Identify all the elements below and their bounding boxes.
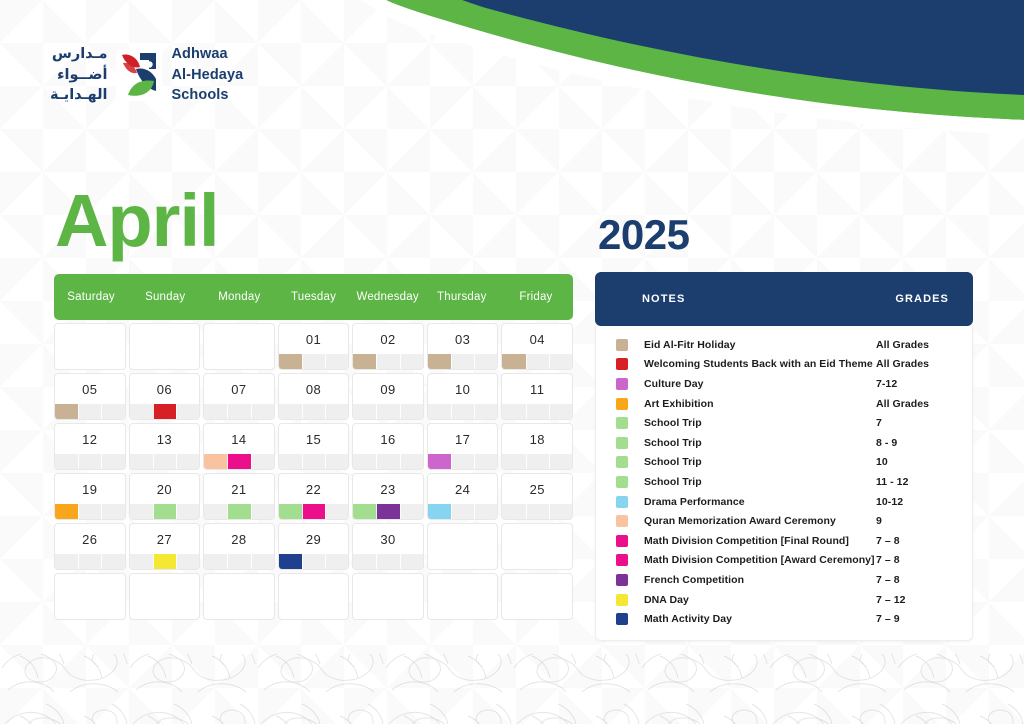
calendar-event-slot-empty [55, 354, 78, 369]
calendar-day-number: 02 [353, 324, 423, 347]
grades-column-label: GRADES [895, 293, 949, 305]
calendar-day-event-strip [428, 354, 498, 369]
calendar-event-slot-empty [325, 554, 348, 569]
calendar-event-slot-empty [353, 404, 376, 419]
calendar-event-slot-empty [526, 454, 549, 469]
calendar-event-chip[interactable] [502, 354, 525, 369]
note-label: DNA Day [644, 594, 876, 606]
calendar-event-slot-empty [451, 604, 474, 619]
calendar-day-number: 30 [353, 524, 423, 547]
calendar-day-number: 26 [55, 524, 125, 547]
calendar-event-slot-empty [227, 404, 250, 419]
calendar-day-cell-empty [278, 573, 350, 620]
calendar-day-number: 17 [428, 424, 498, 447]
school-logo: مـدارس أضــواء الهـدايـة Adhwaa Al-Heday… [50, 44, 243, 106]
calendar-day-cell[interactable]: 02 [352, 323, 424, 370]
calendar-event-chip[interactable] [353, 504, 376, 519]
calendar-event-slot-empty [78, 454, 101, 469]
calendar-day-number: 13 [130, 424, 200, 447]
calendar-event-slot-empty [428, 554, 451, 569]
notes-column-label: NOTES [642, 293, 685, 305]
calendar-day-number [204, 574, 274, 582]
note-grade: All Grades [876, 358, 948, 370]
calendar-event-chip[interactable] [55, 504, 78, 519]
calendar-day-cell[interactable]: 12 [54, 423, 126, 470]
calendar-event-slot-empty [101, 554, 124, 569]
note-label: Math Activity Day [644, 613, 876, 625]
calendar-day-cell-empty [501, 573, 573, 620]
note-legend-row[interactable]: School Trip11 - 12 [616, 472, 948, 492]
calendar-event-slot-empty [428, 604, 451, 619]
calendar-day-number: 29 [279, 524, 349, 547]
calendar-event-chip[interactable] [227, 454, 250, 469]
calendar-event-slot-empty [376, 604, 399, 619]
calendar-event-slot-empty [325, 404, 348, 419]
note-legend-row[interactable]: French Competition7 – 8 [616, 570, 948, 590]
calendar-day-number [428, 524, 498, 532]
calendar-day-cell[interactable]: 27 [129, 523, 201, 570]
logo-arabic-line-3: الهـدايـة [50, 85, 107, 106]
calendar-event-chip[interactable] [153, 554, 176, 569]
note-legend-row[interactable]: Art ExhibitionAll Grades [616, 394, 948, 414]
note-legend-row[interactable]: Math Activity Day7 – 9 [616, 609, 948, 629]
calendar-day-number: 07 [204, 374, 274, 397]
calendar-event-slot-empty [130, 604, 153, 619]
calendar-event-slot-empty [376, 454, 399, 469]
calendar-day-number [55, 574, 125, 582]
calendar-day-event-strip [130, 354, 200, 369]
calendar-day-event-strip [428, 504, 498, 519]
calendar-event-slot-empty [549, 604, 572, 619]
calendar-event-slot-empty [204, 504, 227, 519]
calendar-event-slot-empty [526, 354, 549, 369]
calendar-day-event-strip [55, 354, 125, 369]
calendar-day-event-strip [204, 554, 274, 569]
calendar-event-slot-empty [451, 454, 474, 469]
note-color-swatch [616, 358, 628, 370]
calendar-day-number: 25 [502, 474, 572, 497]
note-legend-row[interactable]: Quran Memorization Award Ceremony9 [616, 511, 948, 531]
calendar-day-cell[interactable]: 16 [352, 423, 424, 470]
calendar-event-slot-empty [204, 604, 227, 619]
calendar-event-slot-empty [474, 354, 497, 369]
calendar-event-slot-empty [353, 604, 376, 619]
note-legend-row[interactable]: Math Division Competition [Award Ceremon… [616, 551, 948, 571]
calendar-day-cell[interactable]: 30 [352, 523, 424, 570]
calendar-day-cell[interactable]: 23 [352, 473, 424, 520]
notes-panel: NOTES GRADES Eid Al-Fitr HolidayAll Grad… [595, 272, 973, 641]
calendar-day-number: 16 [353, 424, 423, 447]
calendar-event-chip[interactable] [279, 554, 302, 569]
note-grade: 7 – 8 [876, 535, 948, 547]
note-legend-row[interactable]: School Trip10 [616, 453, 948, 473]
calendar-day-cell-empty [352, 573, 424, 620]
calendar-day-event-strip [55, 504, 125, 519]
calendar-event-slot-empty [325, 604, 348, 619]
calendar-day-event-strip [428, 404, 498, 419]
calendar-event-slot-empty [101, 404, 124, 419]
note-legend-row[interactable]: Math Division Competition [Final Round]7… [616, 531, 948, 551]
calendar-event-slot-empty [78, 404, 101, 419]
calendar-event-slot-empty [502, 404, 525, 419]
note-grade: 7-12 [876, 378, 948, 390]
calendar-event-slot-empty [353, 454, 376, 469]
calendar-event-slot-empty [302, 354, 325, 369]
calendar-day-number: 10 [428, 374, 498, 397]
calendar-day-event-strip [55, 454, 125, 469]
calendar-event-slot-empty [101, 504, 124, 519]
calendar-event-slot-empty [251, 354, 274, 369]
calendar-day-event-strip [55, 554, 125, 569]
note-grade: 7 – 12 [876, 594, 948, 606]
calendar-event-slot-empty [227, 354, 250, 369]
calendar-day-cell[interactable]: 04 [501, 323, 573, 370]
calendar-day-cell[interactable]: 11 [501, 373, 573, 420]
calendar-event-slot-empty [204, 354, 227, 369]
page-title-month: April [55, 186, 219, 256]
calendar-week-row: 2627282930 [54, 523, 573, 570]
calendar-event-slot-empty [227, 554, 250, 569]
calendar-weekday-friday: Friday [499, 274, 573, 320]
calendar-day-number [428, 574, 498, 582]
calendar-event-chip[interactable] [353, 354, 376, 369]
calendar-day-cell[interactable]: 13 [129, 423, 201, 470]
calendar-event-slot-empty [130, 404, 153, 419]
calendar-event-slot-empty [176, 404, 199, 419]
calendar-day-event-strip [502, 604, 572, 619]
calendar-day-number [130, 574, 200, 582]
calendar-event-chip[interactable] [153, 404, 176, 419]
calendar-day-number: 11 [502, 374, 572, 397]
calendar-day-event-strip [130, 504, 200, 519]
calendar-event-slot-empty [400, 404, 423, 419]
note-label: Culture Day [644, 378, 876, 390]
note-grade: 10 [876, 456, 948, 468]
notes-list: Eid Al-Fitr HolidayAll GradesWelcoming S… [595, 326, 973, 641]
calendar-event-slot-empty [251, 404, 274, 419]
calendar-day-number: 04 [502, 324, 572, 347]
calendar-day-cell[interactable]: 25 [501, 473, 573, 520]
calendar-event-slot-empty [502, 454, 525, 469]
notes-panel-header: NOTES GRADES [595, 272, 973, 326]
note-label: Quran Memorization Award Ceremony [644, 515, 876, 527]
calendar-event-slot-empty [451, 554, 474, 569]
calendar-day-number: 01 [279, 324, 349, 347]
calendar-day-cell[interactable]: 17 [427, 423, 499, 470]
calendar-event-chip[interactable] [302, 504, 325, 519]
note-color-swatch [616, 574, 628, 586]
note-grade: 7 – 8 [876, 574, 948, 586]
calendar-day-cell[interactable]: 20 [129, 473, 201, 520]
calendar-day-cell[interactable]: 18 [501, 423, 573, 470]
calendar-day-event-strip [502, 504, 572, 519]
calendar-event-slot-empty [474, 404, 497, 419]
calendar-day-number [502, 574, 572, 582]
calendar-day-number: 22 [279, 474, 349, 497]
calendar-event-chip[interactable] [55, 404, 78, 419]
note-color-swatch [616, 594, 628, 606]
calendar-day-number [502, 524, 572, 532]
calendar-day-event-strip [204, 504, 274, 519]
calendar-day-event-strip [353, 504, 423, 519]
calendar-event-slot-empty [325, 354, 348, 369]
logo-arabic-text: مـدارس أضــواء الهـدايـة [50, 44, 107, 106]
calendar-day-cell[interactable]: 10 [427, 373, 499, 420]
calendar-day-event-strip [279, 554, 349, 569]
calendar-event-slot-empty [302, 404, 325, 419]
note-label: French Competition [644, 574, 876, 586]
calendar-event-slot-empty [130, 504, 153, 519]
note-label: Art Exhibition [644, 398, 876, 410]
note-grade: 7 – 8 [876, 554, 948, 566]
calendar-event-slot-empty [474, 504, 497, 519]
calendar-event-chip[interactable] [428, 504, 451, 519]
calendar-day-number: 05 [55, 374, 125, 397]
calendar-weekday-thursday: Thursday [425, 274, 499, 320]
calendar-day-event-strip [130, 454, 200, 469]
calendar-day-cell[interactable]: 14 [203, 423, 275, 470]
calendar-event-slot-empty [251, 554, 274, 569]
calendar-event-chip[interactable] [279, 354, 302, 369]
calendar-day-number: 27 [130, 524, 200, 547]
note-label: Drama Performance [644, 496, 876, 508]
calendar-day-cell[interactable]: 08 [278, 373, 350, 420]
calendar-day-number [279, 574, 349, 582]
calendar-event-slot-empty [153, 354, 176, 369]
calendar-event-chip[interactable] [428, 454, 451, 469]
calendar-day-event-strip [353, 354, 423, 369]
calendar-grid: SaturdaySundayMondayTuesdayWednesdayThur… [54, 274, 573, 620]
calendar-event-slot-empty [474, 554, 497, 569]
note-grade: All Grades [876, 339, 948, 351]
calendar-weekday-sunday: Sunday [128, 274, 202, 320]
logo-english-line-2: Al-Hedaya [171, 65, 243, 86]
calendar-day-cell-empty [427, 523, 499, 570]
calendar-event-slot-empty [526, 404, 549, 419]
calendar-event-slot-empty [353, 554, 376, 569]
calendar-event-slot-empty [549, 504, 572, 519]
calendar-day-event-strip [204, 604, 274, 619]
note-color-swatch [616, 398, 628, 410]
note-label: School Trip [644, 437, 876, 449]
calendar-day-cell[interactable]: 28 [203, 523, 275, 570]
calendar-event-slot-empty [376, 404, 399, 419]
calendar-event-slot-empty [251, 504, 274, 519]
calendar-event-slot-empty [325, 504, 348, 519]
calendar-event-slot-empty [376, 554, 399, 569]
calendar-day-cell[interactable]: 06 [129, 373, 201, 420]
calendar-event-slot-empty [176, 554, 199, 569]
note-legend-row[interactable]: School Trip7 [616, 413, 948, 433]
calendar-day-number: 08 [279, 374, 349, 397]
note-color-swatch [616, 417, 628, 429]
note-legend-row[interactable]: DNA Day7 – 12 [616, 590, 948, 610]
calendar-event-slot-empty [279, 404, 302, 419]
calendar-week-row: 19202122232425 [54, 473, 573, 520]
note-color-swatch [616, 554, 628, 566]
calendar-day-event-strip [204, 454, 274, 469]
calendar-day-event-strip [502, 354, 572, 369]
calendar-event-slot-empty [176, 504, 199, 519]
note-color-swatch [616, 456, 628, 468]
calendar-event-slot-empty [78, 504, 101, 519]
calendar-event-slot-empty [251, 454, 274, 469]
calendar-event-chip[interactable] [376, 504, 399, 519]
calendar-day-cell-empty [54, 573, 126, 620]
calendar-day-cell[interactable]: 05 [54, 373, 126, 420]
calendar-event-slot-empty [549, 454, 572, 469]
calendar-event-slot-empty [130, 354, 153, 369]
calendar-week-row: 01020304 [54, 323, 573, 370]
calendar-day-event-strip [353, 454, 423, 469]
calendar-day-number: 28 [204, 524, 274, 547]
calendar-event-slot-empty [549, 554, 572, 569]
logo-english-line-3: Schools [171, 85, 243, 106]
calendar-day-event-strip [204, 404, 274, 419]
calendar-day-cell[interactable]: 26 [54, 523, 126, 570]
calendar-day-cell-empty [427, 573, 499, 620]
calendar-day-number: 23 [353, 474, 423, 497]
calendar-day-number: 18 [502, 424, 572, 447]
calendar-event-slot-empty [451, 404, 474, 419]
note-color-swatch [616, 437, 628, 449]
calendar-day-event-strip [279, 354, 349, 369]
calendar-day-event-strip [279, 604, 349, 619]
calendar-weekday-wednesday: Wednesday [351, 274, 425, 320]
calendar-day-event-strip [279, 504, 349, 519]
calendar-event-slot-empty [502, 554, 525, 569]
calendar-day-event-strip [279, 404, 349, 419]
calendar-day-cell[interactable]: 19 [54, 473, 126, 520]
calendar-day-number: 12 [55, 424, 125, 447]
calendar-event-chip[interactable] [153, 504, 176, 519]
calendar-event-chip[interactable] [428, 354, 451, 369]
note-legend-row[interactable]: Drama Performance10-12 [616, 492, 948, 512]
calendar-event-slot-empty [153, 454, 176, 469]
calendar-day-event-strip [502, 554, 572, 569]
calendar-day-cell[interactable]: 29 [278, 523, 350, 570]
calendar-day-cell[interactable]: 15 [278, 423, 350, 470]
calendar-day-event-strip [428, 454, 498, 469]
calendar-event-slot-empty [130, 454, 153, 469]
calendar-event-slot-empty [78, 554, 101, 569]
calendar-day-cell[interactable]: 03 [427, 323, 499, 370]
note-legend-row[interactable]: Culture Day7-12 [616, 374, 948, 394]
calendar-event-slot-empty [400, 454, 423, 469]
calendar-event-slot-empty [153, 604, 176, 619]
calendar-day-number: 06 [130, 374, 200, 397]
calendar-event-slot-empty [101, 454, 124, 469]
note-legend-row[interactable]: Eid Al-Fitr HolidayAll Grades [616, 335, 948, 355]
note-label: Math Division Competition [Award Ceremon… [644, 554, 876, 566]
calendar-event-slot-empty [451, 504, 474, 519]
calendar-day-cell[interactable]: 24 [427, 473, 499, 520]
calendar-day-cell[interactable]: 22 [278, 473, 350, 520]
calendar-event-slot-empty [78, 354, 101, 369]
note-color-swatch [616, 378, 628, 390]
calendar-event-slot-empty [176, 454, 199, 469]
calendar-day-event-strip [279, 454, 349, 469]
note-color-swatch [616, 339, 628, 351]
logo-emblem-icon [116, 49, 162, 101]
note-grade: 7 [876, 417, 948, 429]
note-color-swatch [616, 535, 628, 547]
calendar-event-slot-empty [55, 454, 78, 469]
calendar-day-cell[interactable]: 07 [203, 373, 275, 420]
calendar-weeks: 0102030405060708091011121314151617181920… [54, 323, 573, 620]
note-grade: 10-12 [876, 496, 948, 508]
calendar-event-chip[interactable] [227, 504, 250, 519]
calendar-event-chip[interactable] [279, 504, 302, 519]
calendar-event-slot-empty [549, 404, 572, 419]
calendar-event-slot-empty [400, 604, 423, 619]
calendar-week-row: 05060708091011 [54, 373, 573, 420]
note-label: School Trip [644, 476, 876, 488]
calendar-event-slot-empty [279, 454, 302, 469]
calendar-event-slot-empty [451, 354, 474, 369]
calendar-day-cell[interactable]: 09 [352, 373, 424, 420]
calendar-day-event-strip [204, 354, 274, 369]
calendar-day-event-strip [353, 404, 423, 419]
calendar-day-cell-empty [203, 573, 275, 620]
note-legend-row[interactable]: School Trip8 - 9 [616, 433, 948, 453]
calendar-week-row [54, 573, 573, 620]
calendar-event-chip[interactable] [204, 454, 227, 469]
calendar-day-number: 24 [428, 474, 498, 497]
calendar-day-event-strip [428, 554, 498, 569]
calendar-day-cell-empty [203, 323, 275, 370]
calendar-event-slot-empty [325, 454, 348, 469]
calendar-event-slot-empty [204, 554, 227, 569]
calendar-day-cell-empty [54, 323, 126, 370]
calendar-day-cell-empty [129, 573, 201, 620]
calendar-day-event-strip [428, 604, 498, 619]
note-label: Welcoming Students Back with an Eid Them… [644, 358, 876, 370]
calendar-weekday-header: SaturdaySundayMondayTuesdayWednesdayThur… [54, 274, 573, 320]
calendar-day-number: 14 [204, 424, 274, 447]
calendar-event-slot-empty [227, 604, 250, 619]
calendar-day-number: 20 [130, 474, 200, 497]
calendar-event-slot-empty [78, 604, 101, 619]
footer-calligraphy-decoration [0, 638, 1024, 724]
calendar-day-event-strip [502, 454, 572, 469]
calendar-day-number: 21 [204, 474, 274, 497]
calendar-event-slot-empty [176, 354, 199, 369]
note-legend-row[interactable]: Welcoming Students Back with an Eid Them… [616, 355, 948, 375]
calendar-day-number [204, 324, 274, 332]
note-label: Eid Al-Fitr Holiday [644, 339, 876, 351]
logo-english-line-1: Adhwaa [171, 44, 243, 65]
calendar-day-event-strip [55, 404, 125, 419]
calendar-day-event-strip [130, 404, 200, 419]
calendar-event-slot-empty [55, 554, 78, 569]
calendar-event-slot-empty [55, 604, 78, 619]
calendar-event-slot-empty [176, 604, 199, 619]
note-color-swatch [616, 515, 628, 527]
calendar-day-number: 09 [353, 374, 423, 397]
note-grade: 7 – 9 [876, 613, 948, 625]
calendar-event-slot-empty [400, 554, 423, 569]
calendar-day-event-strip [353, 554, 423, 569]
logo-arabic-line-1: مـدارس [50, 44, 107, 65]
calendar-event-slot-empty [101, 354, 124, 369]
calendar-day-event-strip [130, 554, 200, 569]
note-label: Math Division Competition [Final Round] [644, 535, 876, 547]
calendar-day-cell[interactable]: 21 [203, 473, 275, 520]
calendar-day-cell[interactable]: 01 [278, 323, 350, 370]
calendar-day-number: 15 [279, 424, 349, 447]
note-color-swatch [616, 613, 628, 625]
